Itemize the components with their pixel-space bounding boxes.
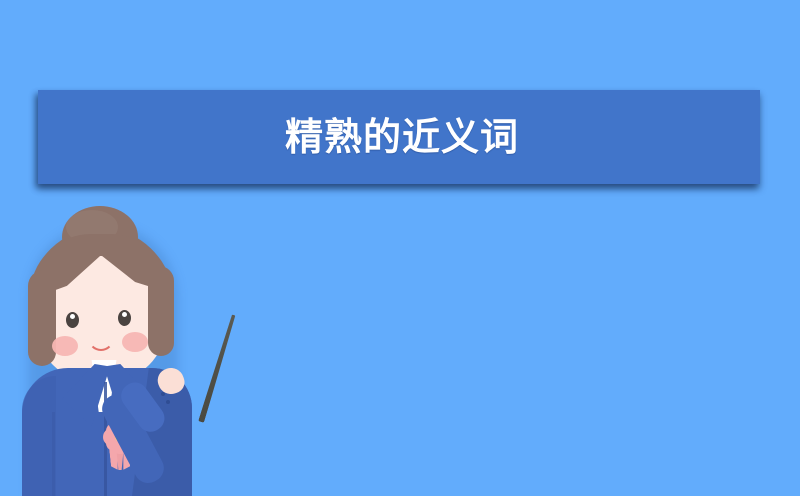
jacket-side-seam (52, 412, 55, 496)
cheek-left (52, 336, 78, 356)
cheek-right (122, 332, 148, 352)
jacket-shading-left (22, 376, 56, 496)
eye-left-highlight (70, 314, 75, 319)
page-root: 精熟的近义词 (0, 0, 800, 496)
hair-side-right (148, 266, 174, 356)
eye-right-highlight (122, 312, 127, 317)
sleeve-button-two (166, 400, 170, 404)
title-banner: 精熟的近义词 (38, 90, 760, 184)
pointer-stick-icon (198, 314, 236, 423)
page-title: 精熟的近义词 (285, 118, 519, 156)
hair-side-left (28, 270, 56, 366)
teacher-illustration (0, 200, 270, 496)
